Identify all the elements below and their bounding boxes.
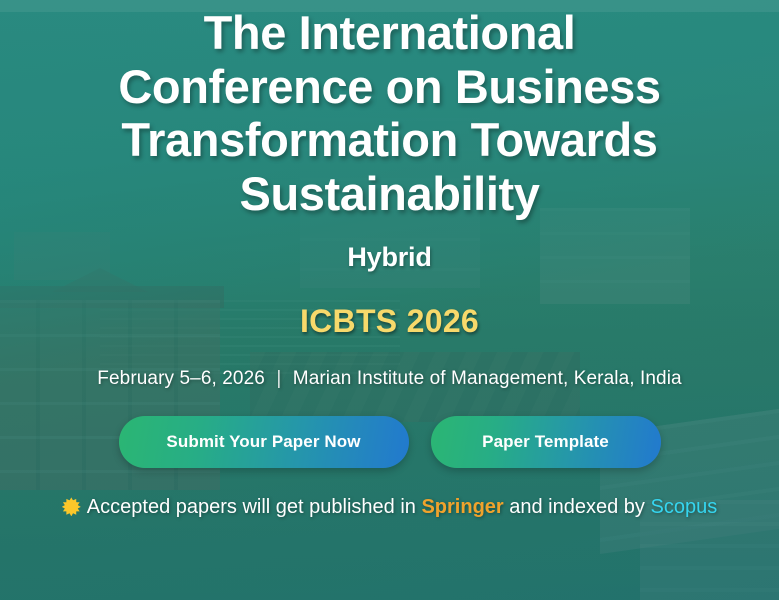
conference-title: The International Conference on Business… xyxy=(60,6,720,220)
title-line-2: Conference on Business xyxy=(60,60,720,114)
date-and-venue-line: February 5–6, 2026 | Marian Institute of… xyxy=(97,368,681,390)
scopus-label: Scopus xyxy=(650,496,717,518)
conference-venue: Marian Institute of Management, Kerala, … xyxy=(293,368,682,389)
sun-icon xyxy=(62,497,81,516)
dateline-separator: | xyxy=(276,368,281,390)
conference-banner: The International Conference on Business… xyxy=(0,0,779,600)
banner-content: The International Conference on Business… xyxy=(0,0,779,600)
springer-label: Springer xyxy=(421,496,503,518)
call-to-action-row: Submit Your Paper Now Paper Template xyxy=(119,416,661,468)
title-line-4: Sustainability xyxy=(60,167,720,221)
title-line-3: Transformation Towards xyxy=(60,113,720,167)
publication-note-middle: and indexed by xyxy=(504,496,651,518)
conference-acronym: ICBTS 2026 xyxy=(300,303,479,340)
publication-note: Accepted papers will get published in Sp… xyxy=(40,492,740,523)
title-line-1: The International xyxy=(60,6,720,60)
submit-paper-button[interactable]: Submit Your Paper Now xyxy=(119,416,409,468)
publication-note-prefix: Accepted papers will get published in xyxy=(87,496,422,518)
conference-mode-label: Hybrid xyxy=(347,242,431,273)
conference-dates: February 5–6, 2026 xyxy=(97,368,265,389)
paper-template-button[interactable]: Paper Template xyxy=(431,416,661,468)
